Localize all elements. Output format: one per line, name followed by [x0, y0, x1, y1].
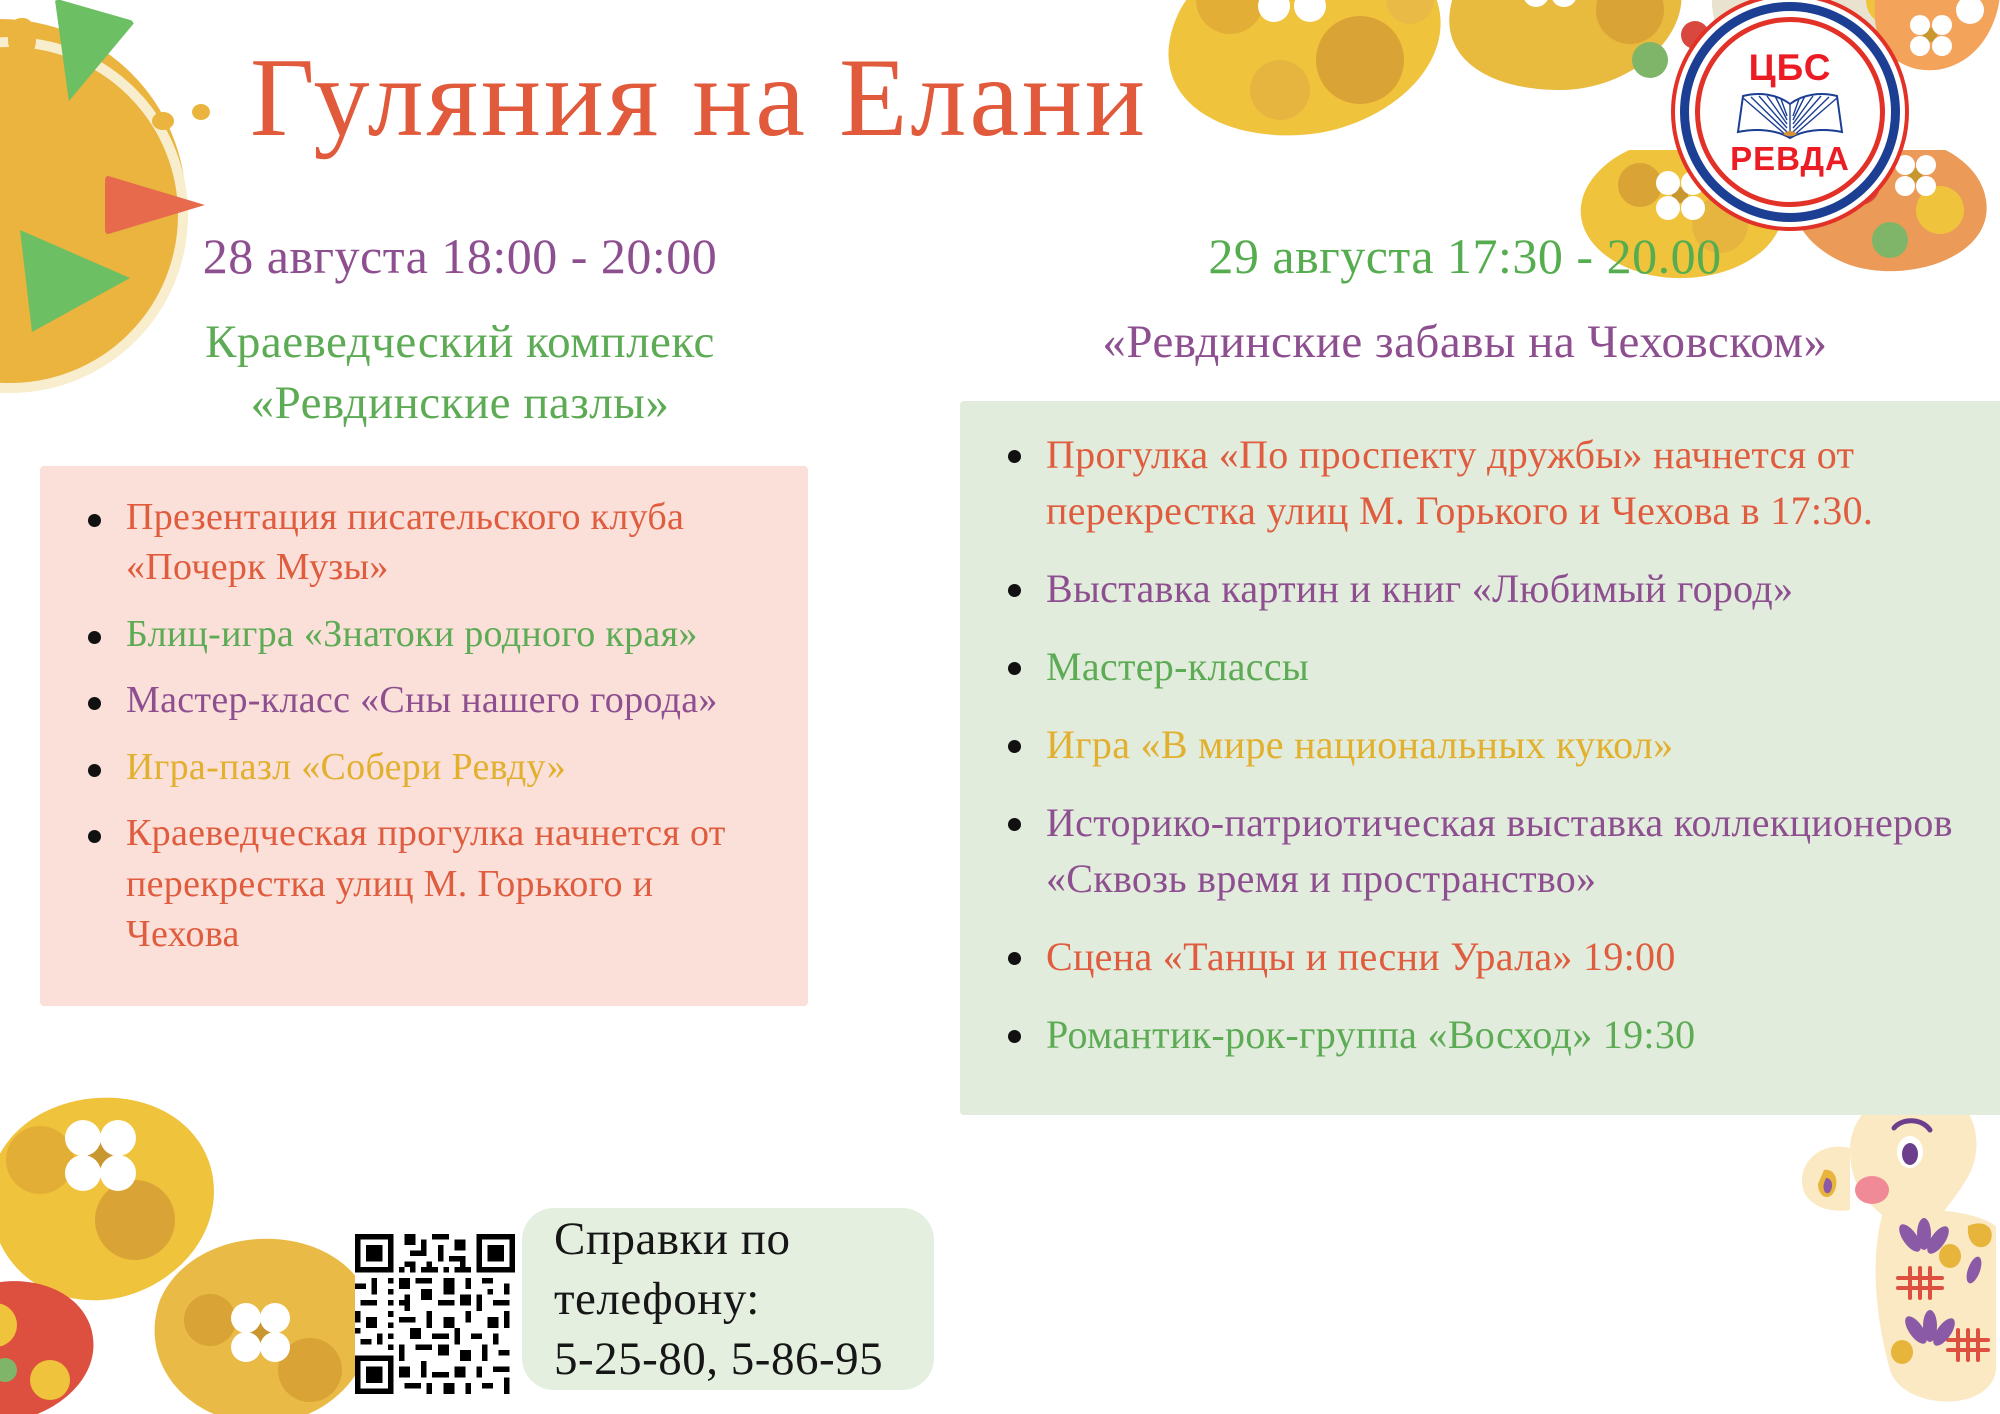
contact-panel: Справки по телефону: 5-25-80, 5-86-95 [522, 1208, 934, 1390]
day-two-venue: «Ревдинские забавы на Чеховском» [960, 312, 1970, 373]
day-one-venue: Краеведческий комплекс «Ревдинские пазлы… [40, 312, 880, 434]
contact-label: Справки по телефону: [554, 1209, 934, 1329]
day-one-panel: Презентация писательского клуба «Почерк … [40, 466, 808, 1006]
list-item: Блиц-игра «Знатоки родного края» [74, 609, 774, 660]
day-two-column: 29 августа 17:30 - 20.00 «Ревдинские заб… [960, 228, 1970, 1115]
list-item: Выставка картин и книг «Любимый город» [994, 561, 1994, 617]
day-one-list: Презентация писательского клуба «Почерк … [74, 492, 774, 960]
list-item: Краеведческая прогулка начнется от перек… [74, 808, 774, 960]
day-two-panel: Прогулка «По проспекту дружбы» начнется … [960, 401, 2000, 1115]
list-item: Романтик-рок-группа «Восход» 19:30 [994, 1007, 1994, 1063]
list-item: Презентация писательского клуба «Почерк … [74, 492, 774, 593]
day-two-venue-line1: «Ревдинские забавы на Чеховском» [960, 312, 1970, 373]
list-item: Мастер-класс «Сны нашего города» [74, 675, 774, 726]
contact-phones: 5-25-80, 5-86-95 [554, 1329, 934, 1389]
day-two-date: 29 августа 17:30 - 20.00 [960, 228, 1970, 286]
list-item: Мастер-классы [994, 639, 1994, 695]
logo-bottom-text: РЕВДА [1730, 142, 1850, 175]
logo-top-text: ЦБС [1749, 49, 1832, 86]
list-item: Историко-патриотическая выставка коллекц… [994, 795, 1994, 907]
day-one-venue-line2: «Ревдинские пазлы» [40, 373, 880, 434]
list-item: Игра-пазл «Собери Ревду» [74, 742, 774, 793]
list-item: Игра «В мире национальных кукол» [994, 717, 1994, 773]
list-item: Прогулка «По проспекту дружбы» начнется … [994, 427, 1994, 539]
poster-canvas: ЦБС РЕВДА Гуляния на Елани 28 августа 18… [0, 0, 2000, 1414]
open-book-icon [1735, 88, 1845, 140]
day-one-column: 28 августа 18:00 - 20:00 Краеведческий к… [40, 228, 880, 1006]
page-title: Гуляния на Елани [250, 42, 1210, 154]
list-item: Сцена «Танцы и песни Урала» 19:00 [994, 929, 1994, 985]
day-one-venue-line1: Краеведческий комплекс [40, 312, 880, 373]
library-logo: ЦБС РЕВДА [1700, 22, 1880, 202]
day-two-list: Прогулка «По проспекту дружбы» начнется … [994, 427, 1994, 1063]
day-one-date: 28 августа 18:00 - 20:00 [40, 228, 880, 286]
qr-code-icon[interactable] [355, 1234, 515, 1394]
